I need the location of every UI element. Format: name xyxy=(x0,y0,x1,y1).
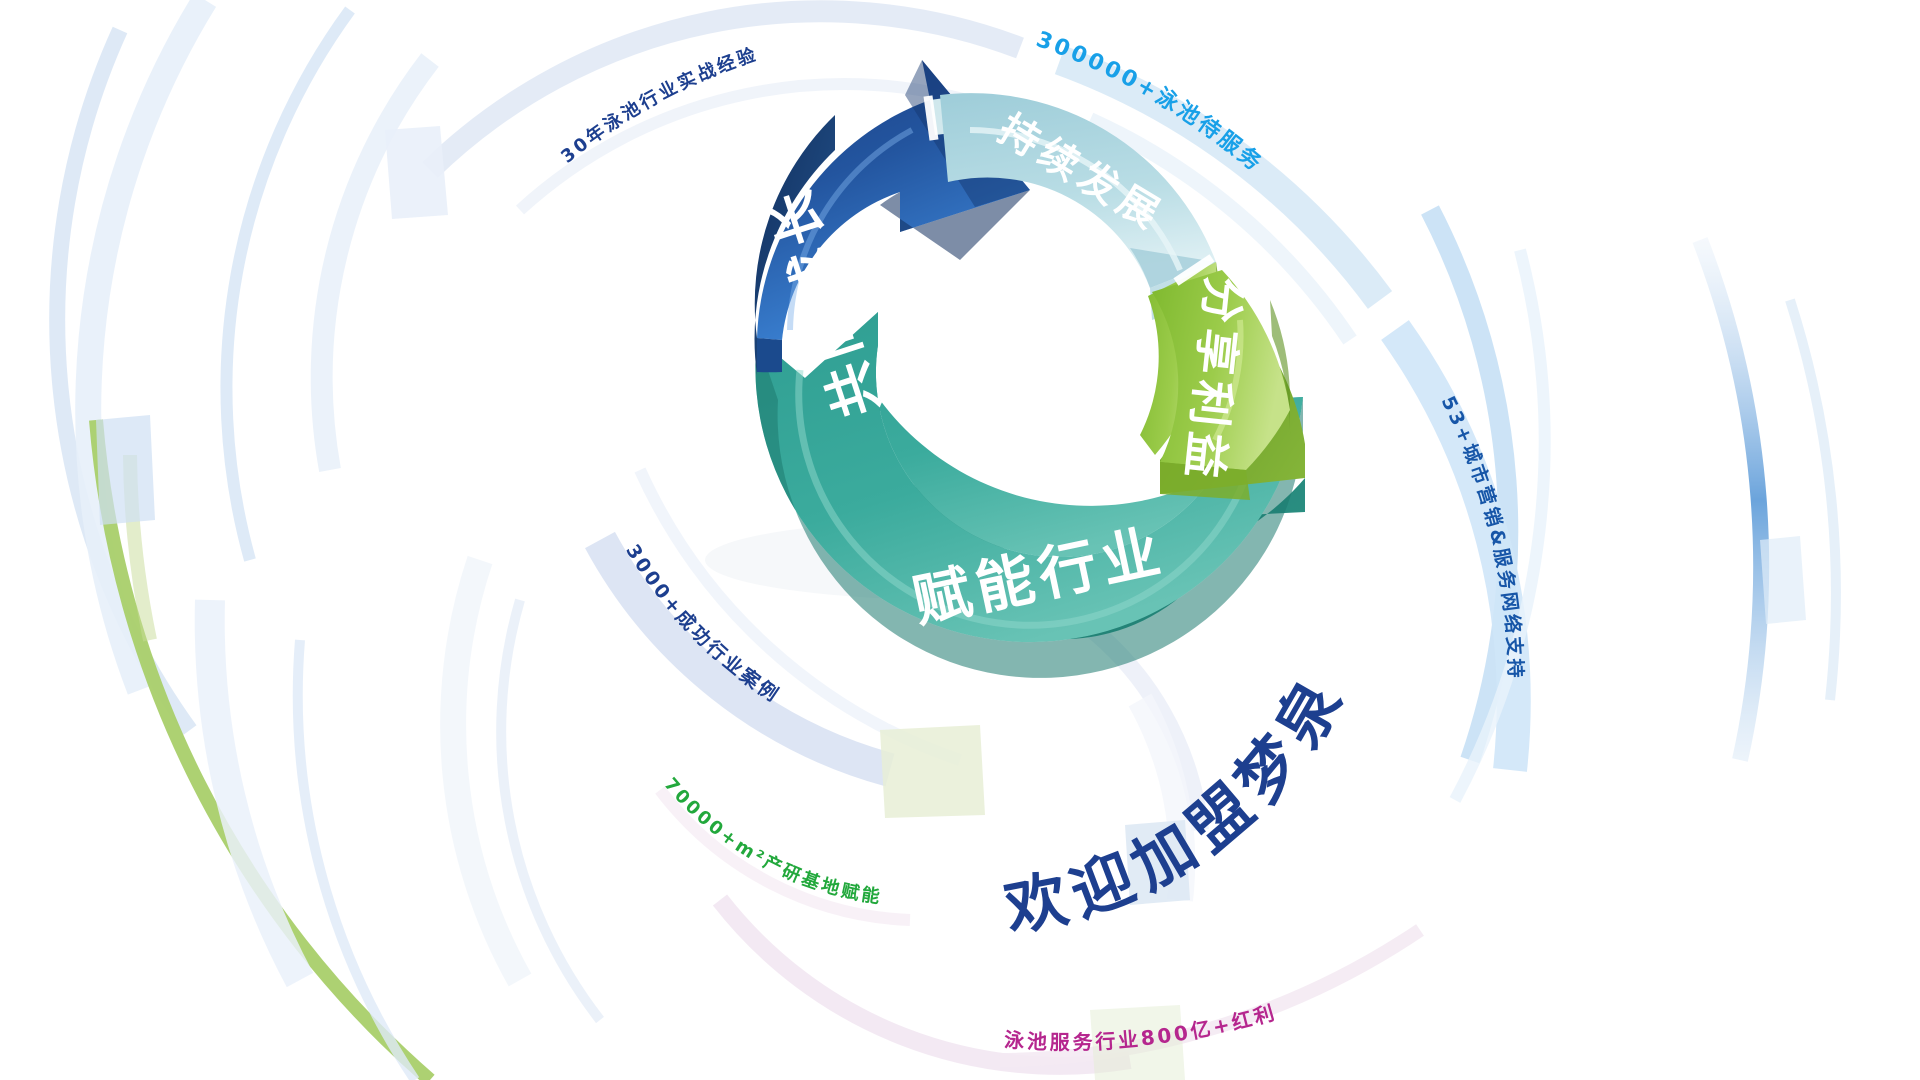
poster-canvas: 共同成长 持续发展 分享利益 赋能行业 30年泳池行业实战经验 300000+泳… xyxy=(0,0,1920,1080)
poster-artwork: 共同成长 持续发展 分享利益 赋能行业 30年泳池行业实战经验 300000+泳… xyxy=(0,0,1920,1080)
